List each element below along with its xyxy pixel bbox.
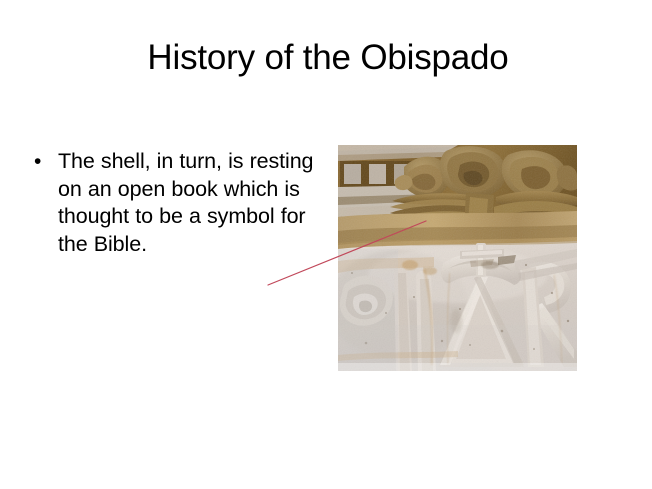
body-text-block: • The shell, in turn, is resting on an o… [28, 148, 328, 258]
obispado-stone-relief-photo [338, 145, 577, 371]
bullet-text: The shell, in turn, is resting on an ope… [58, 148, 328, 258]
page-title: History of the Obispado [0, 36, 652, 80]
slide-canvas: History of the Obispado • The shell, in … [0, 0, 652, 489]
stone-relief-illustration [338, 145, 577, 371]
list-item: • The shell, in turn, is resting on an o… [28, 148, 328, 258]
bullet-dot-icon: • [34, 148, 41, 176]
